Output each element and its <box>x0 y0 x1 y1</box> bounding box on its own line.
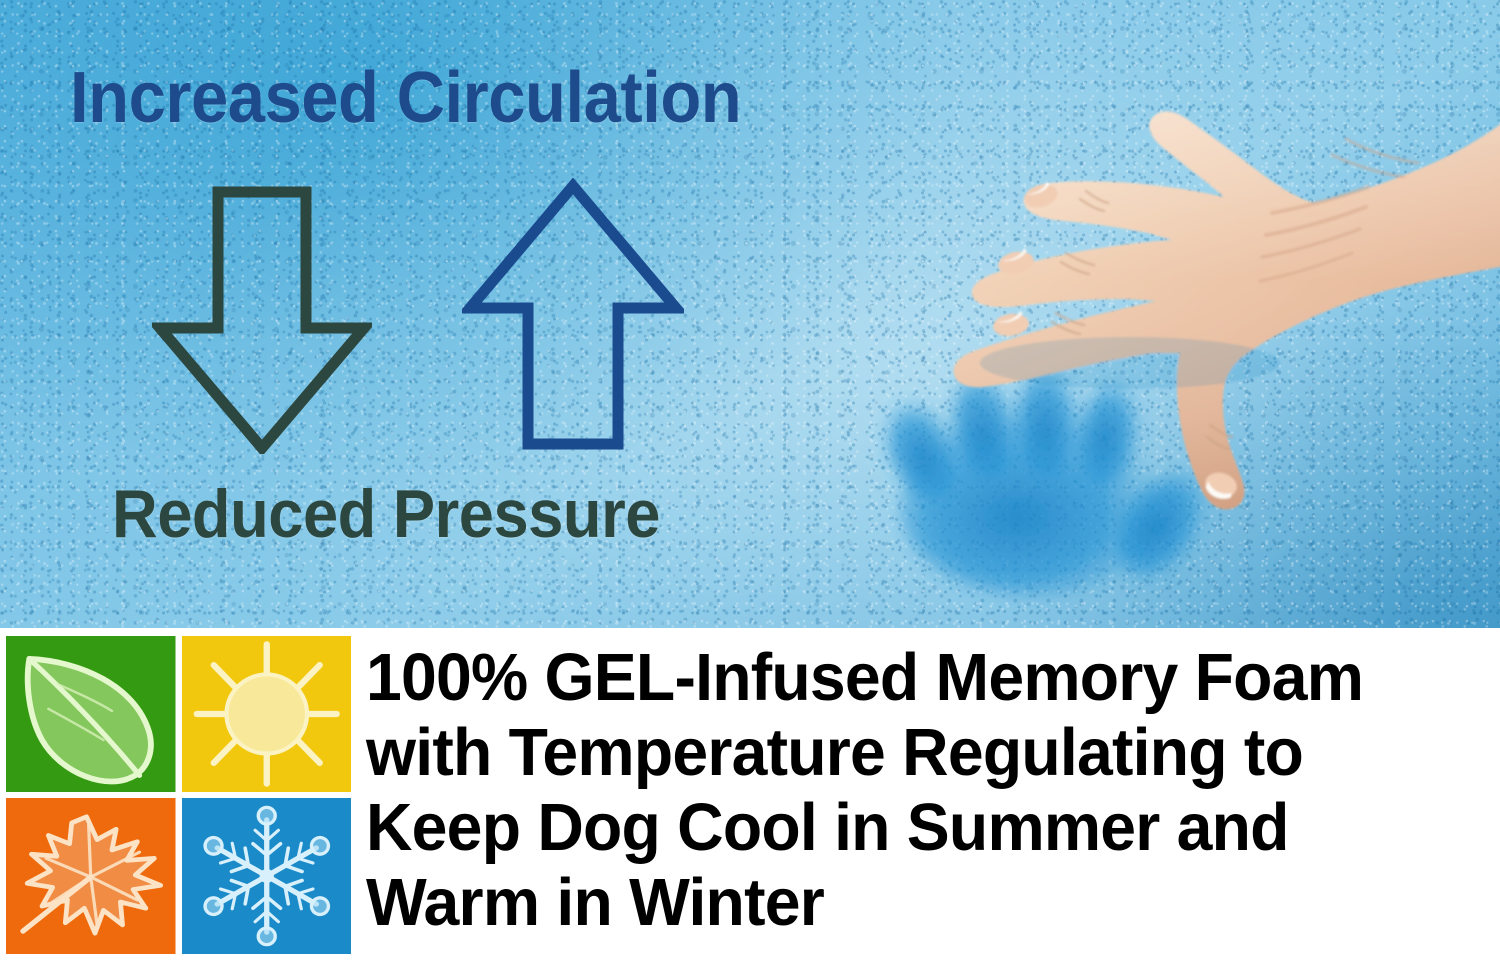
reduced-pressure-label: Reduced Pressure <box>112 480 660 548</box>
season-tile-winter <box>182 798 352 954</box>
down-arrow-icon <box>152 186 372 454</box>
up-arrow-icon <box>462 178 684 452</box>
memory-foam-photo: Increased Circulation Reduced Pressure <box>0 0 1500 628</box>
product-feature-graphic: Increased Circulation Reduced Pressure <box>0 0 1500 962</box>
feature-line-2: with Temperature Regulating to <box>366 715 1451 790</box>
feature-line-4: Warm in Winter <box>366 865 1451 940</box>
feature-callout-panel: 100% GEL-Infused Memory Foam with Temper… <box>0 628 1500 962</box>
season-tile-summer <box>182 636 352 792</box>
season-icon-grid <box>6 636 351 954</box>
season-tile-autumn <box>6 798 176 954</box>
season-tile-spring <box>6 636 176 792</box>
feature-description: 100% GEL-Infused Memory Foam with Temper… <box>366 640 1451 940</box>
feature-line-1: 100% GEL-Infused Memory Foam <box>366 640 1451 715</box>
feature-line-3: Keep Dog Cool in Summer and <box>366 790 1451 865</box>
increased-circulation-label: Increased Circulation <box>70 62 741 134</box>
hand-pressing-foam <box>880 95 1500 540</box>
